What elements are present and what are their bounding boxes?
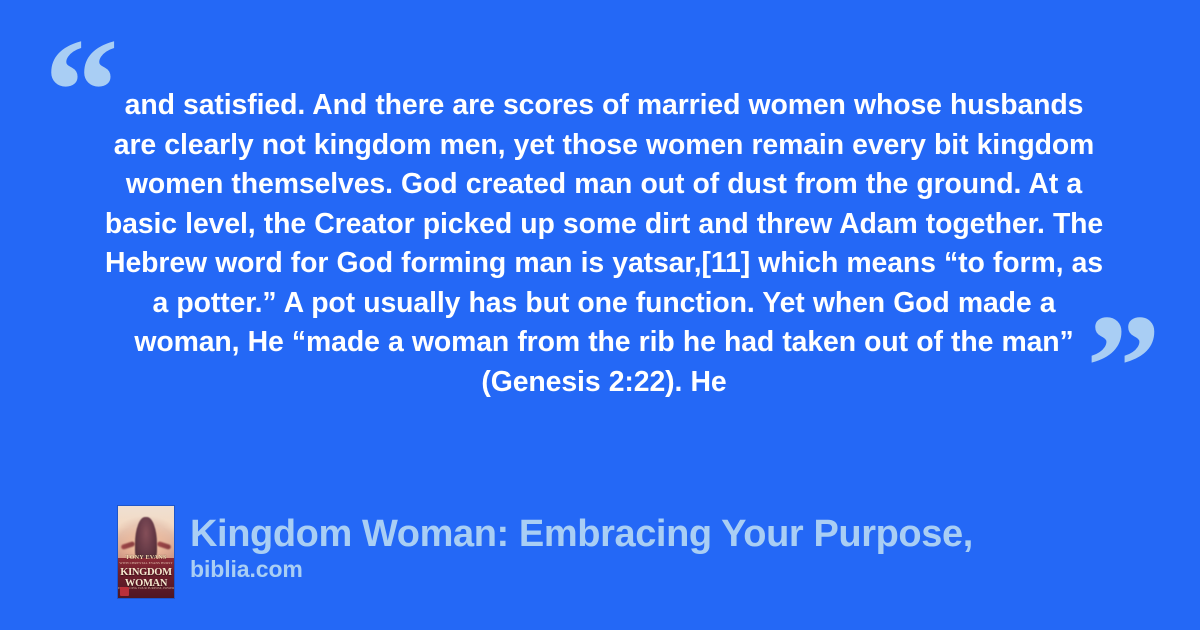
cover-title-line-1: KINGDOM [118,567,174,578]
quote-block: and satisfied. And there are scores of m… [104,86,1104,402]
quote-card: “ and satisfied. And there are scores of… [0,0,1200,630]
closing-quote-mark: ” [1086,292,1158,442]
footer: TONY EVANS WITH CHRYSTAL EVANS HURST KIN… [118,506,973,598]
book-title[interactable]: Kingdom Woman: Embracing Your Purpose, [190,512,973,556]
cover-author-name: TONY EVANS [118,554,174,561]
quote-text: and satisfied. And there are scores of m… [104,86,1104,402]
cover-coauthor-line: WITH CHRYSTAL EVANS HURST [118,561,174,565]
cover-publisher-badge-icon [120,587,129,596]
book-cover-thumbnail[interactable]: TONY EVANS WITH CHRYSTAL EVANS HURST KIN… [118,506,174,598]
footer-text-group: Kingdom Woman: Embracing Your Purpose, b… [190,506,973,583]
source-name[interactable]: biblia.com [190,556,973,583]
